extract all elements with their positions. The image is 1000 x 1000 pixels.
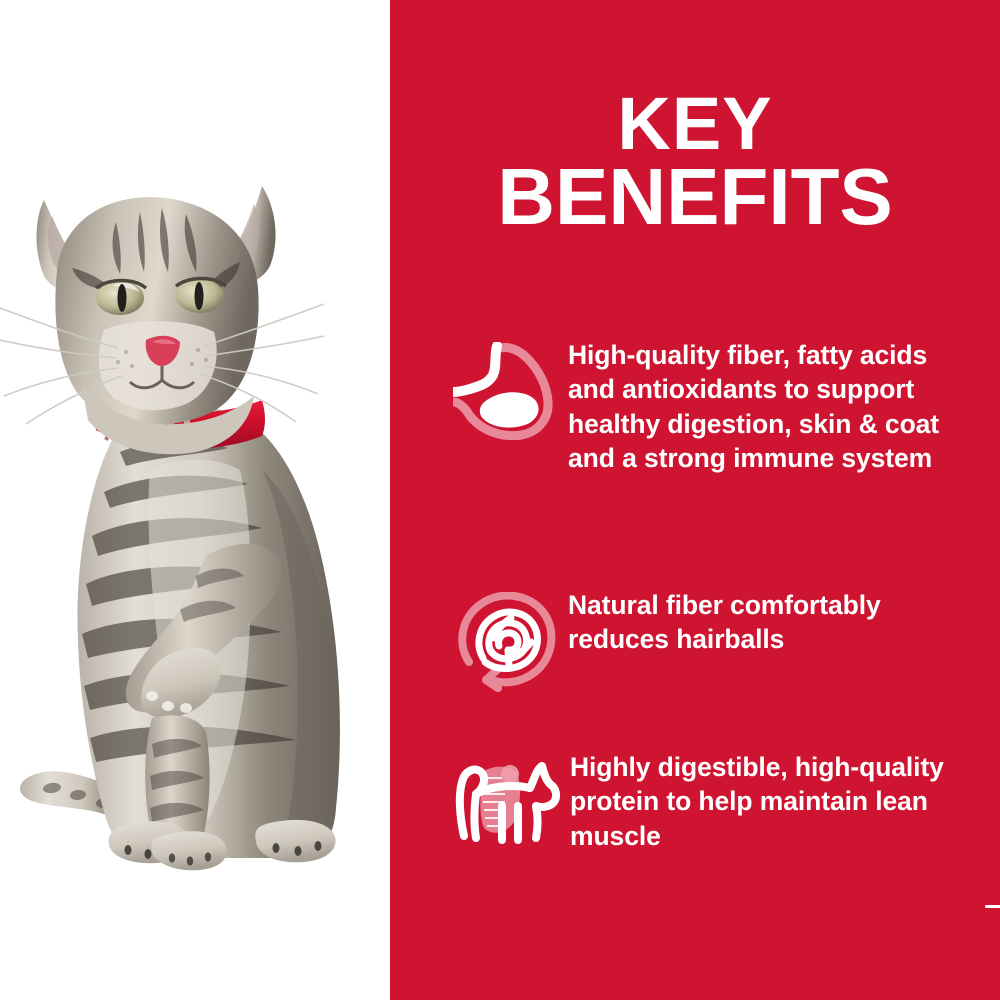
- page-title: KEY BENEFITS: [390, 88, 1000, 236]
- benefit-item-lean-muscle: Highly digestible, high-quality protein …: [390, 742, 1000, 902]
- page-title-line-1: KEY: [390, 88, 1000, 159]
- cat-photo-panel: [0, 0, 390, 1000]
- benefit-text-lean-muscle: Highly digestible, high-quality protein …: [562, 742, 960, 853]
- cat-photo: [0, 0, 390, 1000]
- benefits-panel: KEY BENEFITS High-quality fib: [390, 0, 1000, 1000]
- benefit-text-hairball: Natural fiber comfortably reduces hairba…: [560, 580, 960, 657]
- benefit-divider-1: [985, 905, 1000, 908]
- hairball-icon: [450, 580, 560, 690]
- cat-muscle-icon: [450, 742, 562, 852]
- benefit-text-digestion: High-quality fiber, fatty acids and anti…: [560, 330, 960, 476]
- benefit-list: High-quality fiber, fatty acids and anti…: [390, 330, 1000, 902]
- benefit-item-digestion: High-quality fiber, fatty acids and anti…: [390, 330, 1000, 580]
- stomach-icon: [450, 330, 560, 440]
- key-benefits-marketing-panel: KEY BENEFITS High-quality fib: [0, 0, 1000, 1000]
- page-title-line-2: BENEFITS: [390, 159, 1000, 236]
- benefit-item-hairball: Natural fiber comfortably reduces hairba…: [390, 580, 1000, 742]
